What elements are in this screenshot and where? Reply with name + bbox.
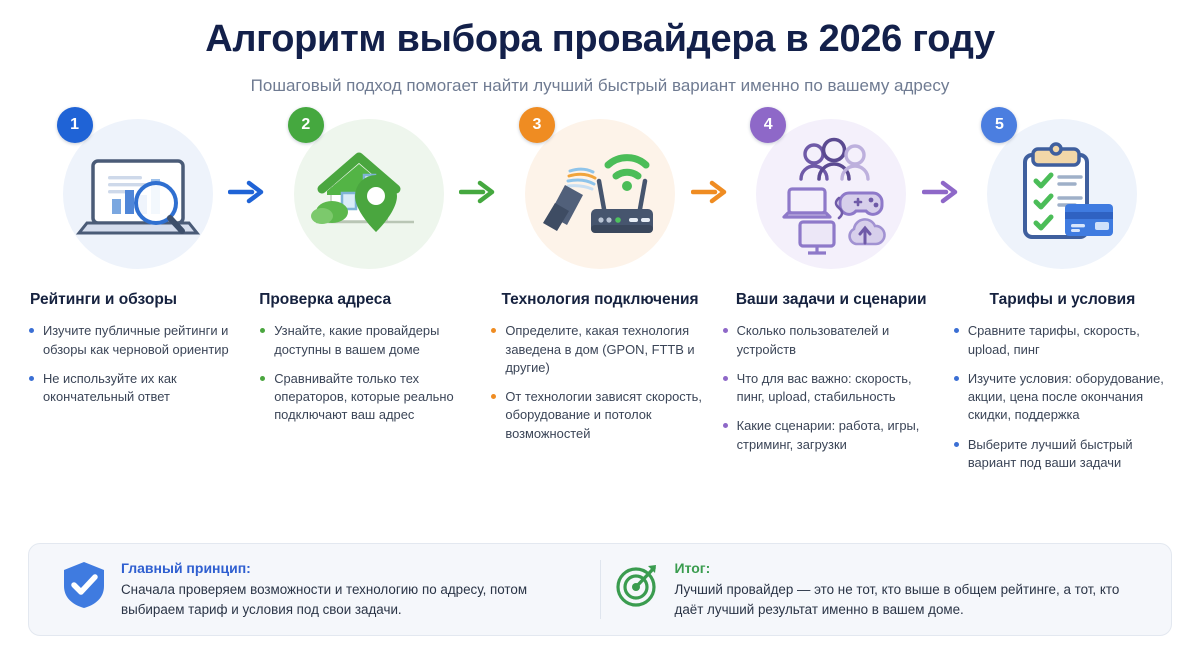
step-3-to-4-arrow-icon (691, 179, 727, 205)
step-4-badge: 4 (750, 107, 786, 143)
list-item: Изучите условия: оборудование, акции, це… (953, 370, 1172, 425)
page-subtitle: Пошаговый подход помогает найти лучший б… (40, 75, 1160, 97)
list-item: Определите, какая технология заведена в … (490, 322, 709, 377)
step-5-badge: 5 (981, 107, 1017, 143)
list-item: Какие сценарии: работа, игры, стриминг, … (722, 417, 941, 454)
step-1-artwork: 1 (28, 119, 247, 269)
step-5: 5 Тарифы и условия Сравните тарифы, скор… (947, 119, 1178, 484)
step-2-to-3-arrow-icon (459, 179, 495, 205)
step-4-to-5-arrow-icon (922, 179, 958, 205)
step-3-title: Технология подключения (490, 291, 709, 310)
steps-row: 1 Рейтинги и обзоры Изучите публичные ре… (0, 97, 1200, 484)
step-4-artwork: 4 (722, 119, 941, 269)
step-2-badge: 2 (288, 107, 324, 143)
header: Алгоритм выбора провайдера в 2026 году П… (0, 0, 1200, 97)
page-title: Алгоритм выбора провайдера в 2026 году (40, 18, 1160, 61)
target-arrow-icon (615, 560, 661, 610)
step-1-to-2-arrow-icon (228, 179, 264, 205)
house-location-pin-icon (294, 119, 444, 269)
list-item: От технологии зависят скорость, оборудов… (490, 388, 709, 443)
list-item: Изучите публичные рейтинги и обзоры как … (28, 322, 247, 359)
laptop-chart-magnifier-icon (63, 119, 213, 269)
result-card: Итог: Лучший провайдер — это не тот, кто… (600, 560, 1154, 619)
step-2-number: 2 (301, 116, 310, 134)
step-5-bullets: Сравните тарифы, скорость, upload, пинг … (953, 322, 1172, 472)
list-item: Узнайте, какие провайдеры доступны в ваш… (259, 322, 478, 359)
result-label: Итог: (675, 560, 1140, 578)
step-1-title: Рейтинги и обзоры (30, 291, 247, 310)
users-devices-icon (756, 119, 906, 269)
list-item: Сравнивайте только тех операторов, котор… (259, 370, 478, 425)
step-2-artwork: 2 (259, 119, 478, 269)
step-5-title: Тарифы и условия (953, 291, 1172, 310)
list-item: Сколько пользователей и устройств (722, 322, 941, 359)
step-2: 2 Проверка адреса Узнайте, какие провайд… (253, 119, 484, 436)
step-5-artwork: 5 (953, 119, 1172, 269)
principle-card: Главный принцип: Сначала проверяем возмо… (47, 560, 600, 619)
step-3: 3 Технология подключения Определите, как… (484, 119, 715, 454)
principle-label: Главный принцип: (121, 560, 586, 578)
list-item: Сравните тарифы, скорость, upload, пинг (953, 322, 1172, 359)
step-1: 1 Рейтинги и обзоры Изучите публичные ре… (22, 119, 253, 418)
summary-panel: Главный принцип: Сначала проверяем возмо… (28, 543, 1172, 636)
result-body: Лучший провайдер — это не тот, кто выше … (675, 580, 1140, 619)
step-3-badge: 3 (519, 107, 555, 143)
step-1-bullets: Изучите публичные рейтинги и обзоры как … (28, 322, 247, 406)
fiber-cable-router-wifi-icon (525, 119, 675, 269)
list-item: Что для вас важно: скорость, пинг, uploa… (722, 370, 941, 407)
step-5-number: 5 (995, 116, 1004, 134)
step-1-number: 1 (70, 116, 79, 134)
step-3-number: 3 (533, 116, 542, 134)
step-4: 4 Ваши задачи и сценарии Сколько пользов… (716, 119, 947, 465)
principle-body: Сначала проверяем возможности и технолог… (121, 580, 586, 619)
infographic-page: Алгоритм выбора провайдера в 2026 году П… (0, 0, 1200, 658)
step-3-bullets: Определите, какая технология заведена в … (490, 322, 709, 443)
result-text: Итог: Лучший провайдер — это не тот, кто… (675, 560, 1140, 619)
step-4-number: 4 (764, 116, 773, 134)
list-item: Не используйте их как окончательный отве… (28, 370, 247, 407)
step-2-bullets: Узнайте, какие провайдеры доступны в ваш… (259, 322, 478, 425)
step-4-bullets: Сколько пользователей и устройств Что дл… (722, 322, 941, 454)
step-3-artwork: 3 (490, 119, 709, 269)
clipboard-checklist-card-icon (987, 119, 1137, 269)
step-4-title: Ваши задачи и сценарии (722, 291, 941, 310)
principle-text: Главный принцип: Сначала проверяем возмо… (121, 560, 586, 619)
step-2-title: Проверка адреса (259, 291, 478, 310)
list-item: Выберите лучший быстрый вариант под ваши… (953, 436, 1172, 473)
shield-check-icon (61, 560, 107, 610)
step-1-badge: 1 (57, 107, 93, 143)
